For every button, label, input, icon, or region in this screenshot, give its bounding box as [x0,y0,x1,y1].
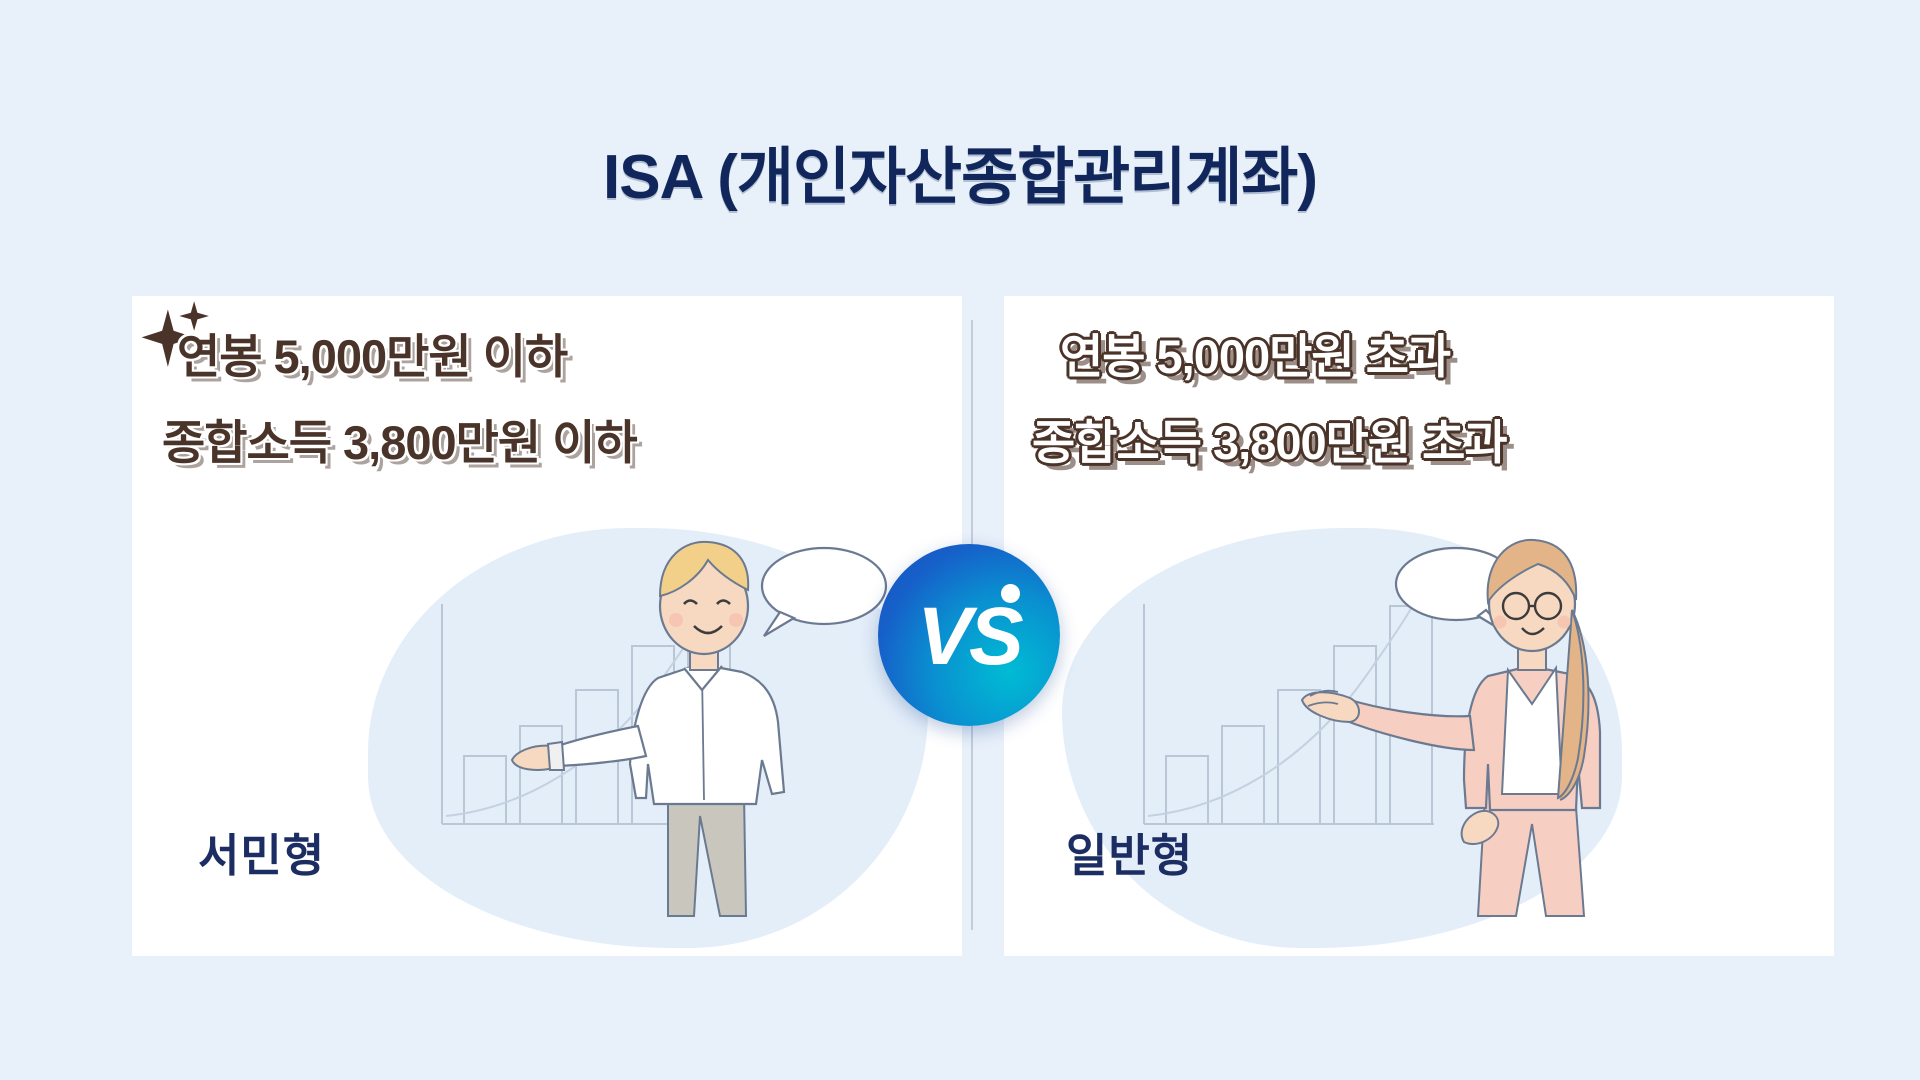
headline-group-seomin: 연봉 5,000만원 이하 종합소득 3,800만원 이하 [132,296,962,496]
illustration-woman-presenting-bar-chart [1134,464,1634,934]
headline-line2-ilban: 종합소득 3,800만원 초과 [1032,404,1507,473]
type-label-ilban: 일반형 [1066,819,1193,884]
vs-badge: VS [878,544,1060,726]
page-title: ISA (개인자산종합관리계좌) [0,126,1920,216]
illustration-man-presenting-bar-chart [432,464,912,934]
vs-dot-icon [1001,584,1020,603]
headline-line1-seomin: 연봉 5,000만원 이하 [177,318,567,387]
type-label-seomin: 서민형 [198,819,325,884]
vs-label: VS [917,596,1020,678]
panel-seomin[interactable]: 연봉 5,000만원 이하 종합소득 3,800만원 이하 서민형 [132,296,962,956]
headline-group-ilban: 연봉 5,000만원 초과 종합소득 3,800만원 초과 [1004,296,1834,496]
panel-ilban[interactable]: 연봉 5,000만원 초과 종합소득 3,800만원 초과 일반형 [1004,296,1834,956]
headline-line2-seomin: 종합소득 3,800만원 이하 [162,404,637,473]
headline-line1-ilban: 연봉 5,000만원 초과 [1060,318,1450,387]
